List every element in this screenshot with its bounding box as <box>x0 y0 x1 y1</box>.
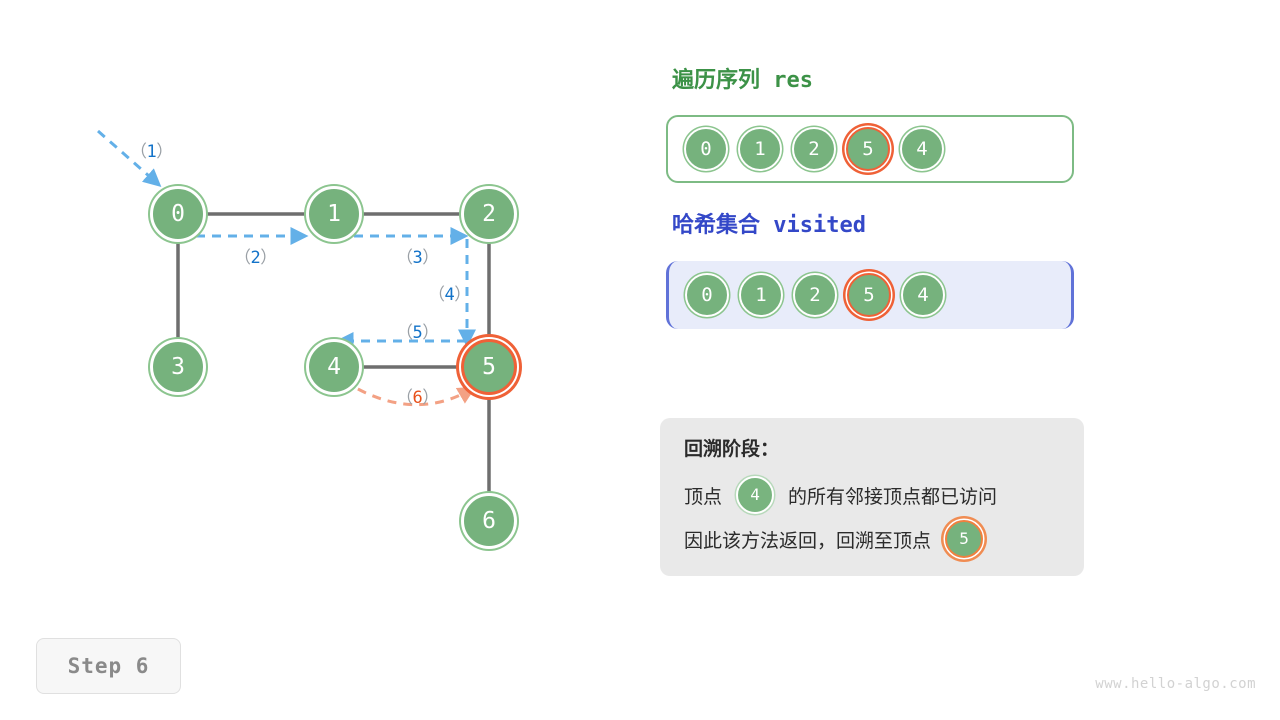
step-label-1-text: 1 <box>147 142 157 162</box>
step-label-1: （1） <box>130 137 173 162</box>
graph-node-5-label: 5 <box>482 356 496 379</box>
watermark: www.hello-algo.com <box>1095 676 1256 692</box>
res-list: 0 1 2 5 4 <box>666 115 1074 183</box>
page-root: 0 1 2 3 4 5 6 （1） （2） （3） （4） （5） （6） 遍历… <box>0 0 1280 720</box>
explanation-line-1-prefix: 顶点 <box>684 482 722 509</box>
visited-chip-label: 5 <box>863 286 874 305</box>
graph-node-2[interactable]: 2 <box>461 186 517 242</box>
explanation-line-2-prefix: 因此该方法返回，回溯至顶点 <box>684 526 931 553</box>
graph-node-1[interactable]: 1 <box>306 186 362 242</box>
explanation-chip-label: 5 <box>959 531 969 547</box>
right-panel: 遍历序列 res 0 1 2 5 4 哈希集合 visited 0 1 2 5 … <box>640 0 1280 720</box>
step-label-6: （6） <box>396 383 439 408</box>
visited-title: 哈希集合 visited <box>672 207 866 239</box>
explanation-chip-vertex-5: 5 <box>945 520 983 558</box>
explanation-line-1-suffix: 的所有邻接顶点都已访问 <box>788 482 997 509</box>
res-chip[interactable]: 0 <box>684 127 728 171</box>
res-chip-label: 5 <box>862 140 873 159</box>
visited-chip[interactable]: 4 <box>901 273 945 317</box>
explanation-chip-label: 4 <box>750 487 760 503</box>
graph-node-0[interactable]: 0 <box>150 186 206 242</box>
res-chip-label: 2 <box>808 140 819 159</box>
step-label-6-text: 6 <box>413 388 423 408</box>
res-title: 遍历序列 res <box>672 62 813 94</box>
graph-node-3[interactable]: 3 <box>150 339 206 395</box>
explanation-line-2: 因此该方法返回，回溯至顶点 5 <box>684 517 1060 561</box>
res-chip-label: 0 <box>700 140 711 159</box>
explanation-line-1: 顶点 4 的所有邻接顶点都已访问 <box>684 473 1060 517</box>
graph-node-6-label: 6 <box>482 510 496 533</box>
res-chip[interactable]: 1 <box>738 127 782 171</box>
res-chip-active[interactable]: 5 <box>846 127 890 171</box>
step-label-2: （2） <box>234 243 277 268</box>
step-label-2-text: 2 <box>251 248 261 268</box>
res-chip-label: 1 <box>754 140 765 159</box>
step-label-3: （3） <box>396 243 439 268</box>
step-label-5-text: 5 <box>413 323 423 343</box>
graph-node-2-label: 2 <box>482 203 496 226</box>
visited-chip-active[interactable]: 5 <box>847 273 891 317</box>
graph-node-1-label: 1 <box>327 203 341 226</box>
graph-node-4[interactable]: 4 <box>306 339 362 395</box>
visited-chip-label: 2 <box>809 286 820 305</box>
step-label-5: （5） <box>396 318 439 343</box>
graph-node-4-label: 4 <box>327 356 341 379</box>
visited-set: 0 1 2 5 4 <box>666 261 1074 329</box>
step-badge: Step 6 <box>36 638 181 694</box>
visited-chip-label: 4 <box>917 286 928 305</box>
explanation-box: 回溯阶段： 顶点 4 的所有邻接顶点都已访问 因此该方法返回，回溯至顶点 5 <box>660 418 1084 576</box>
res-chip[interactable]: 2 <box>792 127 836 171</box>
visited-chip[interactable]: 2 <box>793 273 837 317</box>
graph-panel: 0 1 2 3 4 5 6 （1） （2） （3） （4） （5） （6） <box>0 0 640 720</box>
visited-chip[interactable]: 0 <box>685 273 729 317</box>
explanation-chip-vertex-4: 4 <box>736 476 774 514</box>
explanation-title: 回溯阶段： <box>684 440 1060 459</box>
step-label-4: （4） <box>428 280 471 305</box>
traversal-arrows <box>98 131 467 343</box>
graph-node-3-label: 3 <box>171 356 185 379</box>
graph-node-6[interactable]: 6 <box>461 493 517 549</box>
visited-chip-label: 0 <box>701 286 712 305</box>
visited-chip[interactable]: 1 <box>739 273 783 317</box>
step-label-4-text: 4 <box>445 285 455 305</box>
visited-chip-label: 1 <box>755 286 766 305</box>
res-chip-label: 4 <box>916 140 927 159</box>
graph-node-5[interactable]: 5 <box>461 339 517 395</box>
graph-node-0-label: 0 <box>171 203 185 226</box>
res-chip[interactable]: 4 <box>900 127 944 171</box>
step-label-3-text: 3 <box>413 248 423 268</box>
